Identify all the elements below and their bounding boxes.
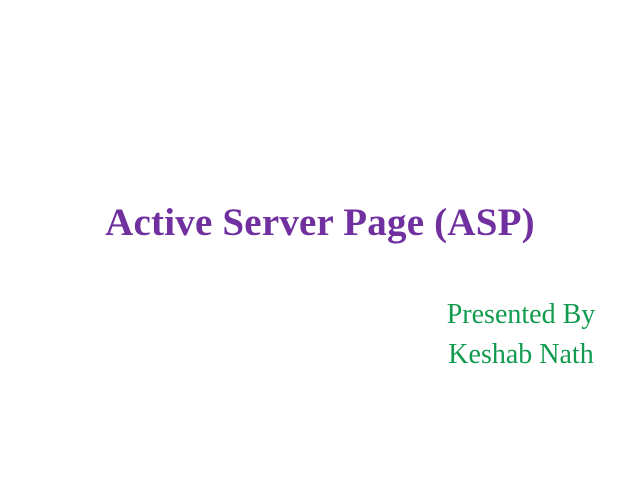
presenter-credit-block: Presented By Keshab Nath: [301, 295, 640, 375]
presentation-title-slide: Active Server Page (ASP) Presented By Ke…: [0, 0, 640, 480]
presenter-name: Keshab Nath: [301, 335, 640, 375]
page-title: Active Server Page (ASP): [0, 199, 640, 247]
presented-by-label: Presented By: [301, 295, 640, 335]
